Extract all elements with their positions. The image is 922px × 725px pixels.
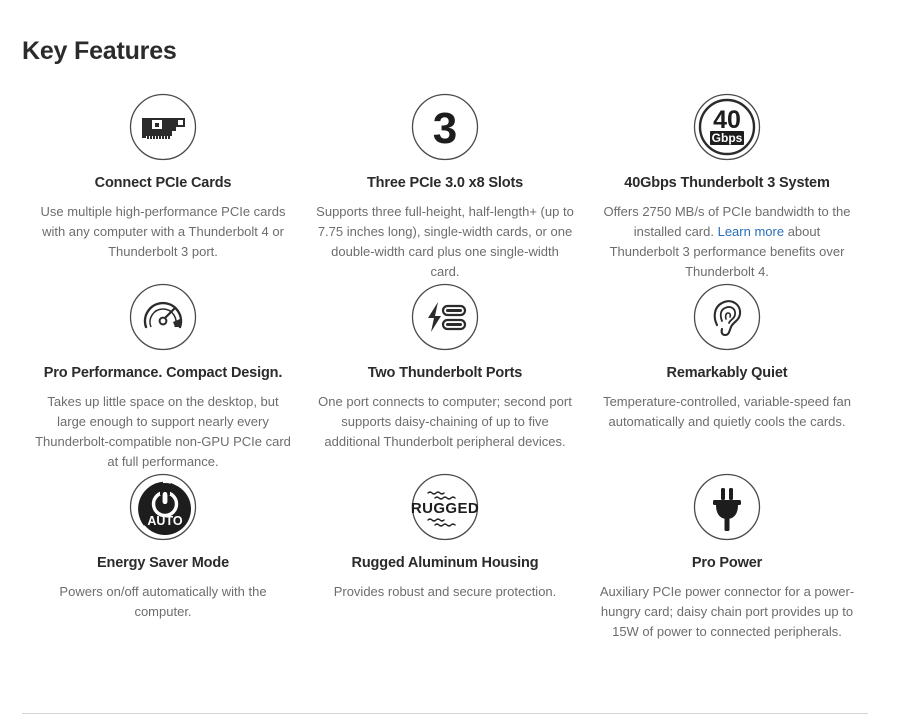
feature-description: Offers 2750 MB/s of PCIe bandwidth to th… [594, 202, 860, 282]
features-grid: Connect PCIe Cards Use multiple high-per… [22, 92, 868, 642]
section-divider [22, 713, 868, 714]
ear-icon [594, 282, 860, 352]
feature-title: Connect PCIe Cards [30, 174, 296, 192]
feature-description-text: Use multiple high-performance PCIe cards… [41, 204, 286, 259]
feature-title: Two Thunderbolt Ports [312, 364, 578, 382]
feature-title: Rugged Aluminum Housing [312, 554, 578, 572]
feature-description: Takes up little space on the desktop, bu… [30, 392, 296, 472]
feature-description: Powers on/off automatically with the com… [30, 582, 296, 622]
feature-card-energy-saver-mode: AUTO Energy Saver Mode Powers on/off aut… [22, 472, 304, 642]
svg-text:AUTO: AUTO [147, 514, 182, 528]
key-features-page: Key Features [0, 0, 922, 725]
svg-text:40: 40 [713, 106, 741, 134]
learn-more-link[interactable]: Learn more [718, 224, 784, 239]
feature-title: Three PCIe 3.0 x8 Slots [312, 174, 578, 192]
svg-text:RUGGED: RUGGED [411, 500, 479, 517]
feature-description: Auxiliary PCIe power connector for a pow… [594, 582, 860, 642]
feature-title: Pro Power [594, 554, 860, 572]
feature-card-remarkably-quiet: Remarkably Quiet Temperature-controlled,… [586, 282, 868, 472]
feature-card-connect-pcie-cards: Connect PCIe Cards Use multiple high-per… [22, 92, 304, 282]
page-title: Key Features [22, 36, 177, 66]
feature-title: Remarkably Quiet [594, 364, 860, 382]
feature-card-40gbps-thunderbolt: 40 Gbps 40Gbps Thunderbolt 3 System Offe… [586, 92, 868, 282]
feature-description-text: Temperature-controlled, variable-speed f… [603, 394, 851, 429]
rugged-badge-icon: RUGGED [312, 472, 578, 542]
feature-description-text: Supports three full-height, half-length+… [316, 204, 574, 279]
feature-description-text: Auxiliary PCIe power connector for a pow… [600, 584, 854, 639]
feature-description: One port connects to computer; second po… [312, 392, 578, 452]
feature-description: Provides robust and secure protection. [312, 582, 578, 602]
feature-description-text: Takes up little space on the desktop, bu… [35, 394, 291, 469]
forty-gbps-icon: 40 Gbps [594, 92, 860, 162]
feature-description-text: Powers on/off automatically with the com… [59, 584, 266, 619]
power-plug-icon [594, 472, 860, 542]
feature-card-two-thunderbolt-ports: Two Thunderbolt Ports One port connects … [304, 282, 586, 472]
number-three-icon: 3 [312, 92, 578, 162]
feature-description-text: Provides robust and secure protection. [334, 584, 557, 599]
feature-title: Pro Performance. Compact Design. [30, 364, 296, 382]
svg-text:3: 3 [433, 104, 457, 153]
feature-title: Energy Saver Mode [30, 554, 296, 572]
auto-power-icon: AUTO [30, 472, 296, 542]
feature-description-text: One port connects to computer; second po… [318, 394, 572, 449]
thunderbolt-ports-icon [312, 282, 578, 352]
svg-text:Gbps: Gbps [712, 131, 743, 145]
pcie-card-icon [30, 92, 296, 162]
feature-title: 40Gbps Thunderbolt 3 System [594, 174, 860, 192]
feature-description: Supports three full-height, half-length+… [312, 202, 578, 282]
feature-card-three-pcie-slots: 3 Three PCIe 3.0 x8 Slots Supports three… [304, 92, 586, 282]
feature-description: Use multiple high-performance PCIe cards… [30, 202, 296, 262]
feature-card-pro-performance: Pro Performance. Compact Design. Takes u… [22, 282, 304, 472]
feature-card-rugged-aluminum-housing: RUGGED Rugged Aluminum Housing Provides … [304, 472, 586, 642]
feature-description: Temperature-controlled, variable-speed f… [594, 392, 860, 432]
feature-card-pro-power: Pro Power Auxiliary PCIe power connector… [586, 472, 868, 642]
speedometer-icon [30, 282, 296, 352]
